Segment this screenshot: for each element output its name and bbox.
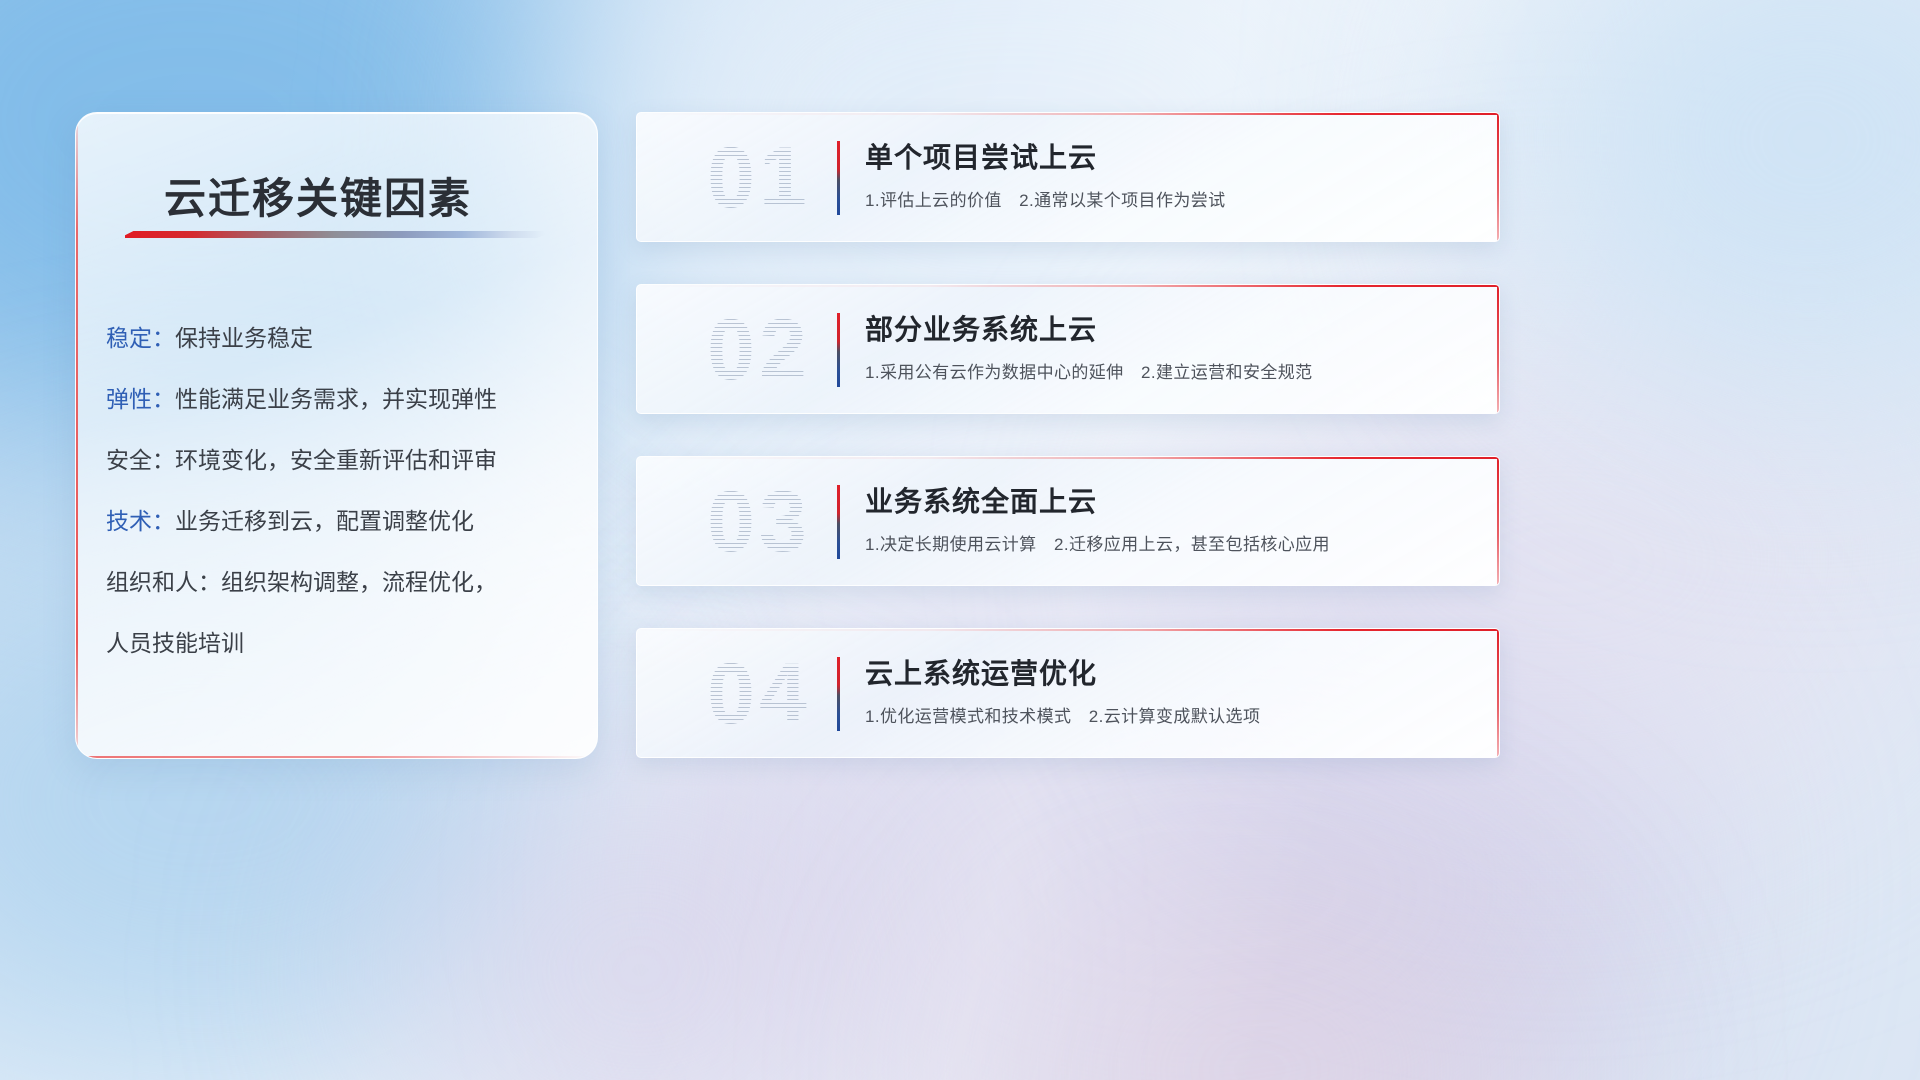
- title-underline-gradient: [125, 231, 545, 238]
- key-factor-item: 技术：业务迁移到云，配置调整优化: [106, 491, 576, 552]
- stage-card-04[interactable]: 04云上系统运营优化1.优化运营模式和技术模式 2.云计算变成默认选项: [636, 628, 1500, 758]
- key-factor-item: 人员技能培训: [106, 613, 576, 674]
- stage-number: 01: [661, 119, 857, 237]
- stage-card-01[interactable]: 01单个项目尝试上云1.评估上云的价值 2.通常以某个项目作为尝试: [636, 112, 1500, 242]
- stage-description: 1.采用公有云作为数据中心的延伸 2.建立运营和安全规范: [865, 358, 1313, 383]
- stage-number: 02: [661, 291, 857, 409]
- key-factor-text: 组织架构调整，流程优化，: [221, 569, 497, 595]
- stage-number: 03: [661, 463, 857, 581]
- card-right-accent-line: [1497, 285, 1499, 413]
- key-factor-text: 保持业务稳定: [175, 325, 313, 351]
- key-factor-label: 稳定：: [106, 325, 175, 351]
- stage-title: 业务系统全面上云: [865, 480, 1097, 520]
- card-right-accent-line: [1497, 629, 1499, 757]
- stage-card-02[interactable]: 02部分业务系统上云1.采用公有云作为数据中心的延伸 2.建立运营和安全规范: [636, 284, 1500, 414]
- card-right-accent-line: [1497, 457, 1499, 585]
- key-factor-item: 组织和人：组织架构调整，流程优化，: [106, 552, 576, 613]
- card-top-accent-line: [637, 285, 1499, 287]
- stage-title: 部分业务系统上云: [865, 308, 1097, 348]
- stage-divider-bar: [837, 313, 840, 387]
- stage-number: 04: [661, 635, 857, 753]
- key-factor-text: 业务迁移到云，配置调整优化: [175, 508, 474, 534]
- stage-description: 1.评估上云的价值 2.通常以某个项目作为尝试: [865, 186, 1226, 211]
- page-title: 云迁移关键因素: [164, 165, 472, 226]
- key-factor-label: 安全：: [106, 447, 175, 473]
- card-top-accent-line: [637, 629, 1499, 631]
- key-factor-item: 安全：环境变化，安全重新评估和评审: [106, 430, 576, 491]
- stage-description: 1.决定长期使用云计算 2.迁移应用上云，甚至包括核心应用: [865, 530, 1330, 555]
- key-factor-label: 技术：: [106, 508, 175, 534]
- card-top-accent-line: [637, 113, 1499, 115]
- slide-content: 云迁移关键因素 稳定：保持业务稳定弹性：性能满足业务需求，并实现弹性安全：环境变…: [0, 0, 1920, 1080]
- stage-divider-bar: [837, 657, 840, 731]
- key-factor-text: 性能满足业务需求，并实现弹性: [175, 386, 497, 412]
- stage-card-03[interactable]: 03业务系统全面上云1.决定长期使用云计算 2.迁移应用上云，甚至包括核心应用: [636, 456, 1500, 586]
- stage-title: 云上系统运营优化: [865, 652, 1097, 692]
- panel-left-accent-bar: [76, 113, 78, 758]
- key-factor-text: 人员技能培训: [106, 630, 244, 656]
- card-right-accent-line: [1497, 113, 1499, 241]
- key-factor-text: 环境变化，安全重新评估和评审: [175, 447, 497, 473]
- panel-bottom-accent-bar: [76, 756, 597, 758]
- key-factor-item: 弹性：性能满足业务需求，并实现弹性: [106, 369, 576, 430]
- stage-divider-bar: [837, 485, 840, 559]
- stage-title: 单个项目尝试上云: [865, 136, 1097, 176]
- card-top-accent-line: [637, 457, 1499, 459]
- key-factors-panel: 云迁移关键因素 稳定：保持业务稳定弹性：性能满足业务需求，并实现弹性安全：环境变…: [75, 112, 598, 759]
- stage-description: 1.优化运营模式和技术模式 2.云计算变成默认选项: [865, 702, 1260, 727]
- key-factor-label: 弹性：: [106, 386, 175, 412]
- stage-divider-bar: [837, 141, 840, 215]
- key-factor-item: 稳定：保持业务稳定: [106, 308, 576, 369]
- key-factors-list: 稳定：保持业务稳定弹性：性能满足业务需求，并实现弹性安全：环境变化，安全重新评估…: [106, 308, 576, 674]
- key-factor-label: 组织和人：: [106, 569, 221, 595]
